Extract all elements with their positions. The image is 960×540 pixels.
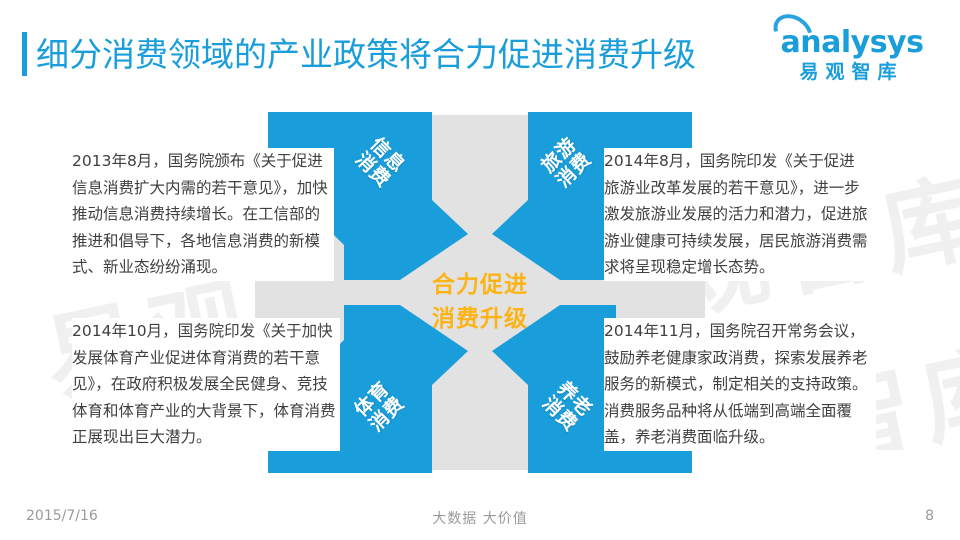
- analysys-logo: analysys 易观智库: [758, 26, 938, 88]
- title-accent-bar: [22, 32, 27, 76]
- footer-tagline: 大数据 大价值: [0, 508, 960, 528]
- logo-wordmark-cn: 易观智库: [758, 60, 938, 84]
- center-label: 合力促进 消费升级: [380, 268, 580, 336]
- slide-header: 细分消费领域的产业政策将合力促进消费升级 analysys 易观智库: [0, 0, 960, 100]
- center-label-line1: 合力促进: [380, 268, 580, 302]
- slide-footer: 2015/7/16 大数据 大价值 8: [0, 505, 960, 540]
- text-block-top-right: 2014年8月，国务院印发《关于促进旅游业改革发展的若干意见》，进一步激发旅游业…: [604, 148, 870, 281]
- footer-page-number: 8: [925, 508, 934, 524]
- text-block-bottom-left: 2014年10月，国务院印发《关于加快发展体育产业促进体育消费的若干意见》，在政…: [72, 318, 340, 451]
- logo-wordmark: analysys: [758, 26, 938, 60]
- text-block-top-left: 2013年8月，国务院颁布《关于促进信息消费扩大内需的若干意见》，加快推动信息消…: [72, 148, 334, 281]
- text-block-bottom-right: 2014年11月，国务院召开常务会议，鼓励养老健康家政消费，探索发展养老服务的新…: [604, 318, 876, 451]
- page-title: 细分消费领域的产业政策将合力促进消费升级: [36, 28, 696, 76]
- slide: 易观智库 易观智库 易观智库 细分消费领域的产业政策将合力促进消费升级 anal…: [0, 0, 960, 540]
- center-label-line2: 消费升级: [380, 302, 580, 336]
